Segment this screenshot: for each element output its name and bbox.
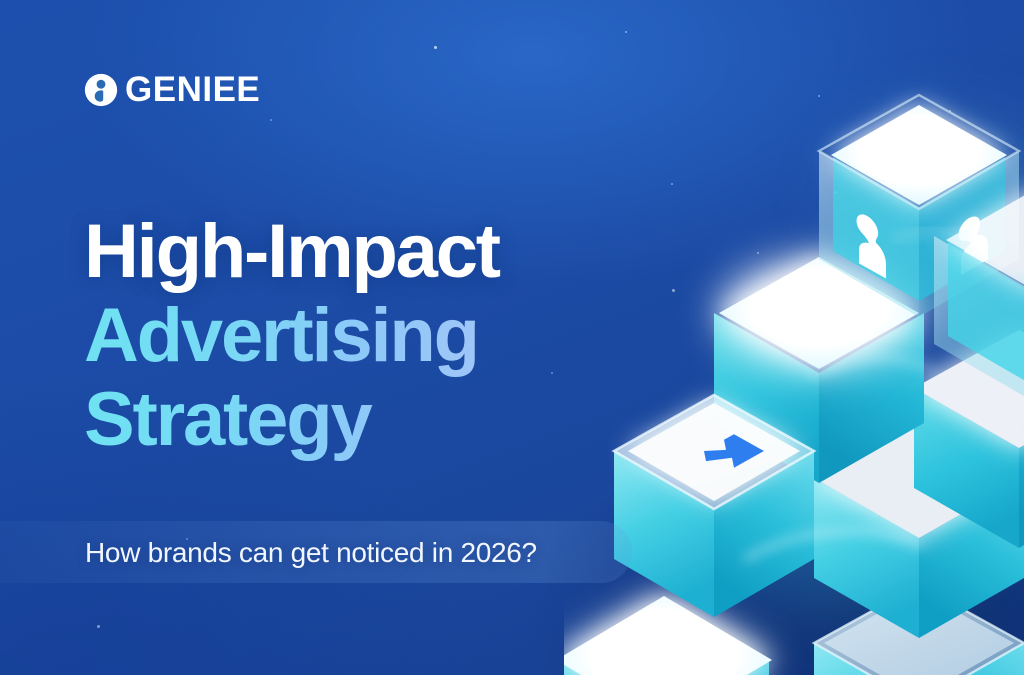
isometric-cube-artwork <box>564 0 1024 675</box>
brand-name: GENIEE <box>125 72 260 107</box>
brand-logo[interactable]: GENIEE <box>84 72 260 107</box>
headline-block: High-Impact Advertising Strategy <box>84 210 499 462</box>
person-circle-icon <box>84 73 118 107</box>
headline-line-3: Strategy <box>84 378 499 462</box>
headline-line-2: Advertising <box>84 294 499 378</box>
subtitle-text: How brands can get noticed in 2026? <box>85 536 537 570</box>
headline-line-1: High-Impact <box>84 210 499 294</box>
promo-banner: GENIEE High-Impact Advertising Strategy … <box>0 0 1024 675</box>
cube-bottom-left <box>564 596 772 675</box>
